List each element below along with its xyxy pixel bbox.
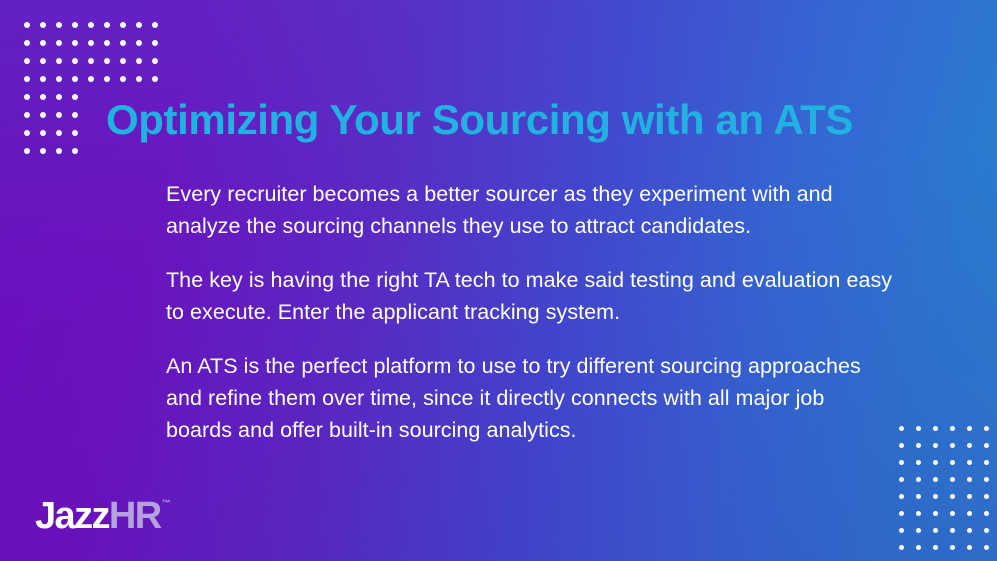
- decorative-dot: [899, 426, 904, 431]
- decorative-dot: [40, 94, 46, 100]
- decorative-dot: [950, 511, 955, 516]
- decorative-dot: [40, 40, 46, 46]
- body-paragraph-1: Every recruiter becomes a better sourcer…: [166, 178, 896, 242]
- decorative-dot: [984, 511, 989, 516]
- decorative-dot: [24, 94, 30, 100]
- decorative-dot: [24, 76, 30, 82]
- decorative-dot: [40, 148, 46, 154]
- decorative-dot: [916, 494, 921, 499]
- decorative-dot: [967, 426, 972, 431]
- jazzhr-logo: JazzHR™: [35, 497, 171, 535]
- decorative-dot: [984, 494, 989, 499]
- decorative-dot: [72, 94, 78, 100]
- dot-pattern-top-left-icon: [24, 22, 168, 166]
- decorative-dot: [72, 112, 78, 118]
- decorative-dot: [88, 22, 94, 28]
- decorative-dot: [950, 460, 955, 465]
- decorative-dot: [933, 460, 938, 465]
- decorative-dot: [56, 22, 62, 28]
- decorative-dot: [136, 40, 142, 46]
- decorative-dot: [56, 94, 62, 100]
- decorative-dot: [56, 76, 62, 82]
- decorative-dot: [152, 76, 158, 82]
- logo-secondary-text: HR: [109, 497, 161, 535]
- decorative-dot: [104, 58, 110, 64]
- decorative-dot: [950, 545, 955, 550]
- decorative-dot: [56, 58, 62, 64]
- decorative-dot: [40, 22, 46, 28]
- decorative-dot: [40, 58, 46, 64]
- decorative-dot: [967, 460, 972, 465]
- decorative-dot: [967, 477, 972, 482]
- decorative-dot: [24, 58, 30, 64]
- decorative-dot: [72, 22, 78, 28]
- trademark-icon: ™: [162, 499, 171, 508]
- decorative-dot: [72, 76, 78, 82]
- decorative-dot: [967, 443, 972, 448]
- slide-title: Optimizing Your Sourcing with an ATS: [106, 96, 853, 144]
- decorative-dot: [104, 40, 110, 46]
- decorative-dot: [136, 76, 142, 82]
- decorative-dot: [933, 511, 938, 516]
- decorative-dot: [24, 40, 30, 46]
- decorative-dot: [72, 148, 78, 154]
- decorative-dot: [916, 426, 921, 431]
- decorative-dot: [56, 130, 62, 136]
- decorative-dot: [56, 148, 62, 154]
- decorative-dot: [72, 130, 78, 136]
- decorative-dot: [916, 511, 921, 516]
- decorative-dot: [899, 528, 904, 533]
- decorative-dot: [899, 494, 904, 499]
- logo-primary-text: Jazz: [35, 497, 109, 535]
- decorative-dot: [88, 58, 94, 64]
- decorative-dot: [899, 477, 904, 482]
- decorative-dot: [967, 545, 972, 550]
- decorative-dot: [72, 40, 78, 46]
- decorative-dot: [88, 76, 94, 82]
- decorative-dot: [88, 40, 94, 46]
- decorative-dot: [120, 76, 126, 82]
- decorative-dot: [136, 58, 142, 64]
- decorative-dot: [899, 545, 904, 550]
- decorative-dot: [967, 528, 972, 533]
- decorative-dot: [967, 511, 972, 516]
- decorative-dot: [984, 426, 989, 431]
- decorative-dot: [933, 426, 938, 431]
- decorative-dot: [916, 443, 921, 448]
- dot-pattern-bottom-right-icon: [899, 426, 997, 561]
- decorative-dot: [984, 477, 989, 482]
- decorative-dot: [120, 22, 126, 28]
- decorative-dot: [899, 460, 904, 465]
- presentation-slide: Optimizing Your Sourcing with an ATS Eve…: [0, 0, 997, 561]
- decorative-dot: [916, 460, 921, 465]
- decorative-dot: [120, 58, 126, 64]
- decorative-dot: [899, 443, 904, 448]
- decorative-dot: [24, 130, 30, 136]
- decorative-dot: [24, 112, 30, 118]
- decorative-dot: [24, 22, 30, 28]
- decorative-dot: [916, 545, 921, 550]
- decorative-dot: [950, 477, 955, 482]
- decorative-dot: [984, 443, 989, 448]
- slide-body: Every recruiter becomes a better sourcer…: [166, 178, 896, 446]
- decorative-dot: [40, 130, 46, 136]
- decorative-dot: [984, 460, 989, 465]
- decorative-dot: [950, 494, 955, 499]
- decorative-dot: [899, 511, 904, 516]
- decorative-dot: [933, 494, 938, 499]
- decorative-dot: [104, 22, 110, 28]
- body-paragraph-2: The key is having the right TA tech to m…: [166, 264, 896, 328]
- body-paragraph-3: An ATS is the perfect platform to use to…: [166, 350, 896, 446]
- decorative-dot: [56, 40, 62, 46]
- decorative-dot: [152, 40, 158, 46]
- decorative-dot: [916, 477, 921, 482]
- decorative-dot: [40, 76, 46, 82]
- decorative-dot: [120, 40, 126, 46]
- decorative-dot: [984, 545, 989, 550]
- decorative-dot: [104, 76, 110, 82]
- decorative-dot: [933, 443, 938, 448]
- decorative-dot: [984, 528, 989, 533]
- decorative-dot: [916, 528, 921, 533]
- decorative-dot: [950, 426, 955, 431]
- decorative-dot: [40, 112, 46, 118]
- decorative-dot: [56, 112, 62, 118]
- decorative-dot: [933, 528, 938, 533]
- decorative-dot: [950, 528, 955, 533]
- decorative-dot: [24, 148, 30, 154]
- decorative-dot: [136, 22, 142, 28]
- decorative-dot: [933, 545, 938, 550]
- decorative-dot: [152, 58, 158, 64]
- decorative-dot: [967, 494, 972, 499]
- decorative-dot: [950, 443, 955, 448]
- decorative-dot: [72, 58, 78, 64]
- decorative-dot: [152, 22, 158, 28]
- decorative-dot: [933, 477, 938, 482]
